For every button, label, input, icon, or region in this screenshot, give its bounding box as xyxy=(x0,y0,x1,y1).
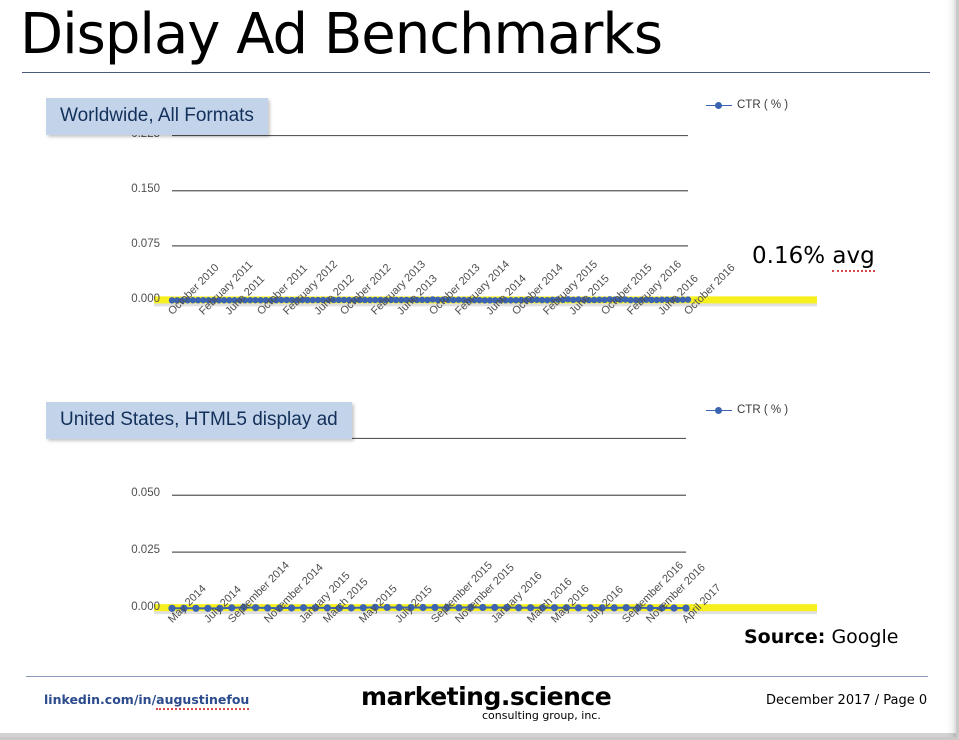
bottom-bar xyxy=(0,733,959,740)
chart-worldwide-all-formats: Worldwide, All Formats CTR ( % ) 0.16% a… xyxy=(0,88,959,378)
footer-brand: marketing.science xyxy=(361,682,611,711)
source-value: Google xyxy=(831,626,898,648)
y-axis-tick-label: 0.025 xyxy=(114,544,160,556)
page-title: Display Ad Benchmarks xyxy=(20,2,662,67)
title-divider xyxy=(22,72,930,73)
footer-page-number: December 2017 / Page 0 xyxy=(766,693,927,708)
y-axis-tick-label: 0.050 xyxy=(114,487,160,499)
y-axis-tick-label: 0.000 xyxy=(114,293,160,305)
slide-canvas: Display Ad Benchmarks Worldwide, All For… xyxy=(0,0,959,740)
source-note: Source: Google xyxy=(744,626,898,648)
chart-title-worldwide: Worldwide, All Formats xyxy=(46,98,268,135)
username-token: augustinefou xyxy=(156,692,249,710)
footer-divider xyxy=(26,676,928,677)
y-axis-tick-label: 0.000 xyxy=(114,601,160,613)
chart-title-united-states: United States, HTML5 display ad xyxy=(46,402,352,439)
footer-linkedin-link[interactable]: linkedin.com/in/augustinefou xyxy=(44,692,249,707)
footer-brand-subtitle: consulting group, inc. xyxy=(482,709,601,722)
y-axis-tick-label: 0.150 xyxy=(114,183,160,195)
y-axis-tick-label: 0.075 xyxy=(114,238,160,250)
source-label: Source: xyxy=(744,626,825,648)
